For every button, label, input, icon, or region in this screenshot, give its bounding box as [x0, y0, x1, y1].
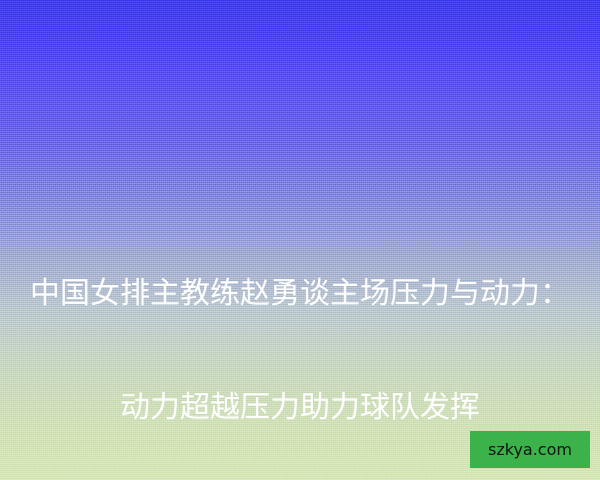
headline-line-1: 中国女排主教练赵勇谈主场压力与动力： [0, 275, 600, 313]
headline-line-2: 动力超越压力助力球队发挥 [0, 389, 600, 427]
poster-image: 中国女排主教练赵勇谈主场压力与动力： 动力超越压力助力球队发挥 szkya.co… [0, 0, 600, 480]
watermark-label: szkya.com [488, 442, 572, 458]
watermark-badge: szkya.com [470, 431, 590, 468]
